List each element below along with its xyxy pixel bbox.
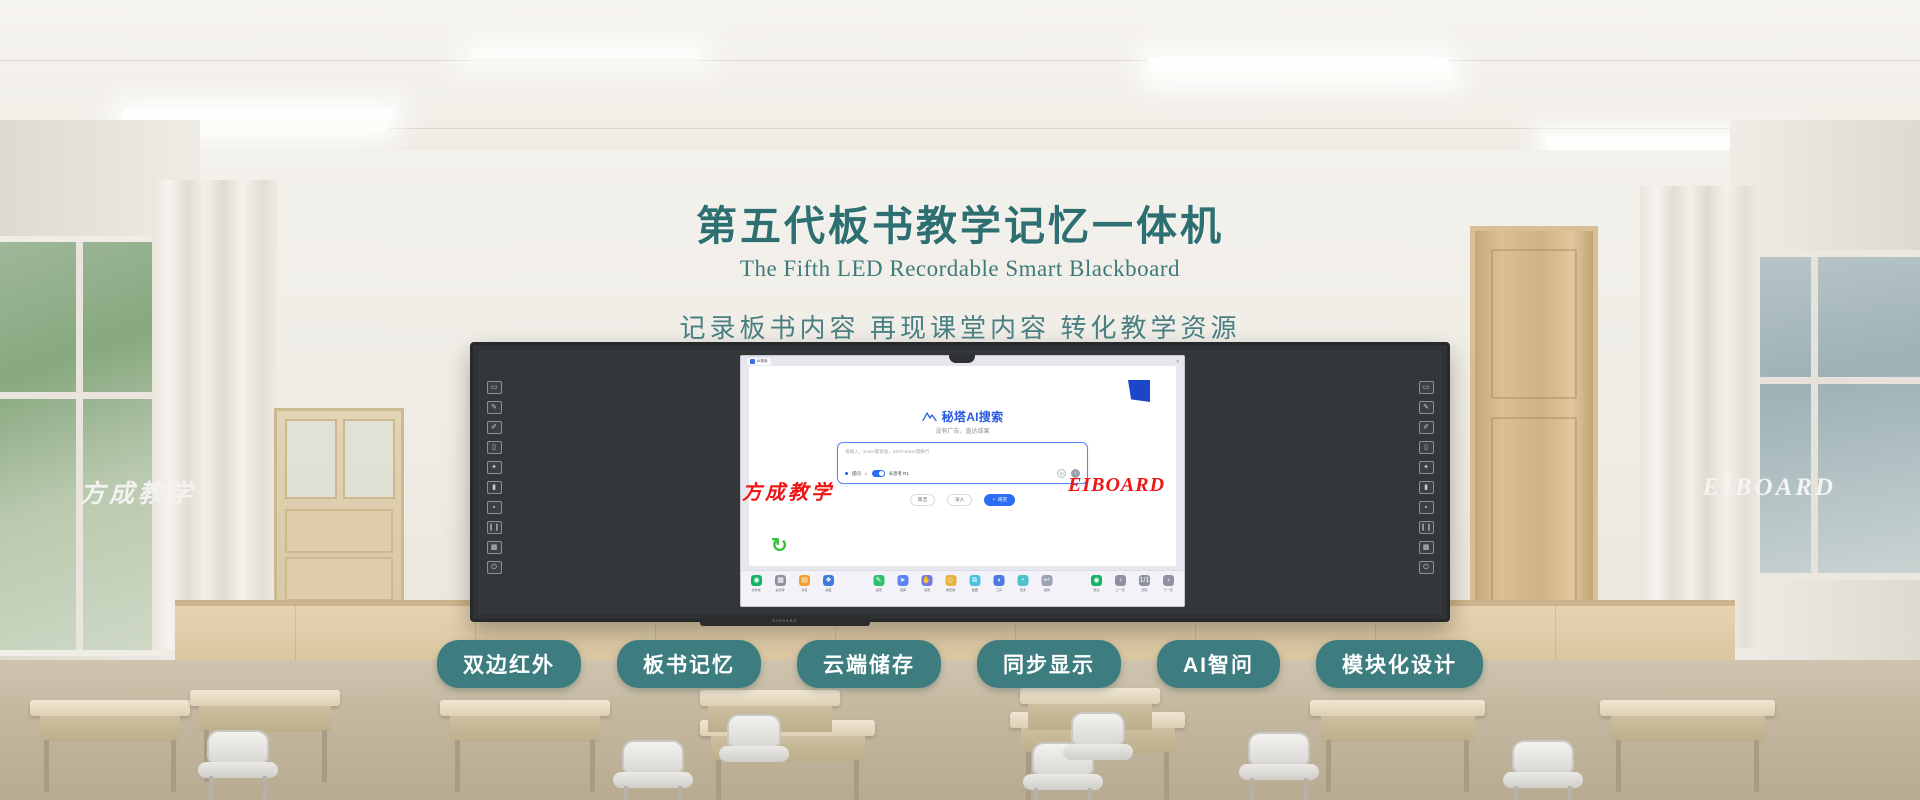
student-desk	[30, 700, 190, 795]
student-chair	[195, 730, 281, 800]
feature-pill-云端储存[interactable]: 云端储存	[797, 640, 941, 688]
taskbar-item-label: 资源库	[776, 587, 785, 592]
side-cabinet	[274, 408, 404, 608]
taskbar-上一页-icon: ‹	[1115, 575, 1126, 586]
taskbar-item-下一页[interactable]: ›下一页	[1160, 575, 1177, 592]
camera-icon[interactable]: ◎	[1057, 469, 1066, 478]
mode-dot-icon	[845, 472, 848, 475]
blackboard-right-controls[interactable]: ▭✎✐▯✦▮▪❙❙▩⏻	[1413, 381, 1439, 574]
chalk-text-right: EIBOARD	[1702, 474, 1836, 502]
chevron-down-icon[interactable]: ∨	[865, 471, 868, 476]
taskbar-页码-icon: 1/1	[1139, 575, 1150, 586]
display-button[interactable]: ▭	[1419, 381, 1434, 394]
grid-button[interactable]: ▩	[1419, 541, 1434, 554]
taskbar-item-label: 科目	[801, 587, 807, 592]
taskbar-item-页码[interactable]: 1/1页码	[1136, 575, 1153, 592]
student-chair	[1060, 712, 1136, 792]
search-chip-label: 简洁	[918, 497, 927, 502]
taskbar-item-画笔[interactable]: ✎画笔	[870, 575, 887, 592]
taskbar-item-上一页[interactable]: ‹上一页	[1112, 575, 1129, 592]
search-input[interactable]: 请输入，Enter键发送，Shift+Enter键换行	[845, 449, 929, 455]
search-chip-label: 研究	[998, 497, 1007, 503]
taskbar-item-label: 工具	[995, 587, 1001, 592]
feature-pill-模块化设计[interactable]: 模块化设计	[1316, 640, 1483, 688]
taskbar-资源库-icon: ▦	[775, 575, 786, 586]
taskbar-item-label: 文件夹	[752, 587, 761, 592]
search-box[interactable]: 请输入，Enter键发送，Shift+Enter键换行 提问 ∨ 长思考 R1 …	[837, 442, 1088, 484]
student-chair	[716, 714, 792, 794]
power-button[interactable]: ⏻	[487, 561, 502, 574]
taskbar-桌面-icon: ❖	[823, 575, 834, 586]
blackboard-left-controls[interactable]: ▭✎✐▯✦▮▪❙❙▩⏻	[481, 381, 507, 574]
taskbar-item-label: 选择	[899, 587, 905, 592]
feature-pill-双边红外[interactable]: 双边红外	[437, 640, 581, 688]
taskbar-批注-icon: ◉	[1091, 575, 1102, 586]
screen-notch	[949, 355, 975, 363]
taskbar-item-label: 桌面	[825, 587, 831, 592]
brand-name: 秘塔AI搜索	[942, 408, 1004, 425]
search-chip-label: 深入	[955, 497, 964, 502]
page-button[interactable]: ▯	[1419, 441, 1434, 454]
taskbar-橡皮擦-icon: ◇	[945, 575, 956, 586]
sparkle-icon: ✧	[992, 497, 996, 503]
taskbar-科目-icon: ▤	[799, 575, 810, 586]
deep-think-label: 长思考 R1	[889, 471, 909, 477]
blackboard-base: EIBOARD	[700, 616, 870, 626]
search-page: 秘塔AI搜索 没有广告，直达结果 请输入，Enter键发送，Shift+Ente…	[749, 366, 1176, 566]
marker-button[interactable]: ✐	[1419, 421, 1434, 434]
search-chip-简洁[interactable]: 简洁	[910, 494, 935, 506]
favicon-icon	[750, 359, 755, 364]
feature-pill-AI智问[interactable]: AI智问	[1157, 640, 1280, 688]
page-subtitle: The Fifth LED Recordable Smart Blackboar…	[0, 256, 1920, 282]
red-chalk-text-right: EIBOARD	[1068, 474, 1165, 497]
student-desk	[1310, 700, 1485, 795]
contrast-button[interactable]: ▮	[487, 481, 502, 494]
taskbar-选择-icon: ➤	[897, 575, 908, 586]
taskbar-item-label: 批注	[1093, 587, 1099, 592]
taskbar-right-group[interactable]: ◉批注‹上一页1/1页码›下一页	[1088, 575, 1177, 592]
power-button[interactable]: ⏻	[1419, 561, 1434, 574]
taskbar-item-漫游[interactable]: ✋漫游	[918, 575, 935, 592]
taskbar-item-资源库[interactable]: ▦资源库	[772, 575, 789, 592]
student-desk	[440, 700, 610, 795]
search-box-footer: 提问 ∨ 长思考 R1 ◎ ↑	[845, 469, 1080, 478]
metaso-logo-icon	[922, 411, 937, 422]
taskbar-文件夹-icon: ◉	[751, 575, 762, 586]
page-tagline: 记录板书内容 再现课堂内容 转化教学资源	[0, 308, 1920, 345]
student-desk	[1600, 700, 1775, 795]
headline-block: 第五代板书教学记忆一体机 The Fifth LED Recordable Sm…	[0, 192, 1920, 345]
taskbar-item-更多[interactable]: ◔更多	[1014, 575, 1031, 592]
taskbar-item-工具[interactable]: ◑工具	[990, 575, 1007, 592]
taskbar-item-label: 更多	[1019, 587, 1025, 592]
feature-pill-板书记忆[interactable]: 板书记忆	[617, 640, 761, 688]
taskbar-item-label: 下一页	[1164, 587, 1173, 592]
blackboard-base-label: EIBOARD	[700, 616, 870, 626]
ceiling-light	[1148, 58, 1453, 80]
pen-button[interactable]: ✎	[1419, 401, 1434, 414]
taskbar-item-label: 截图	[971, 587, 977, 592]
feature-pill-同步显示[interactable]: 同步显示	[977, 640, 1121, 688]
taskbar-截图-icon: ⧉	[969, 575, 980, 586]
taskbar-item-撤销[interactable]: ↩撤销	[1038, 575, 1055, 592]
student-chair	[1236, 732, 1322, 800]
red-chalk-text-left: 方成教学	[742, 476, 834, 505]
close-icon[interactable]: ×	[1176, 359, 1179, 365]
taskbar-item-label: 上一页	[1116, 587, 1125, 592]
brand-tagline: 没有广告，直达结果	[749, 426, 1176, 435]
chalk-text-left: 方成教学	[80, 474, 196, 510]
taskbar-画笔-icon: ✎	[873, 575, 884, 586]
contrast-button[interactable]: ▮	[1419, 481, 1434, 494]
brightness-button[interactable]: ✦	[1419, 461, 1434, 474]
pc-taskbar[interactable]: ◉文件夹▦资源库▤科目❖桌面 ✎画笔➤选择✋漫游◇橡皮擦⧉截图◑工具◔更多↩撤销…	[741, 570, 1184, 606]
brightness-button[interactable]: ✦	[487, 461, 502, 474]
mode-label[interactable]: 提问	[852, 471, 861, 477]
stop-button[interactable]: ▪	[1419, 501, 1434, 514]
stop-button[interactable]: ▪	[487, 501, 502, 514]
student-chair	[610, 740, 696, 800]
taskbar-item-文件夹[interactable]: ◉文件夹	[748, 575, 765, 592]
taskbar-item-橡皮擦[interactable]: ◇橡皮擦	[942, 575, 959, 592]
feature-pill-row[interactable]: 双边红外板书记忆云端储存同步显示AI智问模块化设计	[0, 640, 1920, 688]
student-chair	[1500, 740, 1586, 800]
taskbar-item-label: 撤销	[1043, 587, 1049, 592]
brand-row: 秘塔AI搜索	[749, 408, 1176, 425]
taskbar-item-科目[interactable]: ▤科目	[796, 575, 813, 592]
ceiling-seam	[0, 60, 1920, 61]
ceiling-light	[469, 48, 701, 64]
taskbar-漫游-icon: ✋	[921, 575, 932, 586]
taskbar-下一页-icon: ›	[1163, 575, 1174, 586]
taskbar-item-选择[interactable]: ➤选择	[894, 575, 911, 592]
taskbar-工具-icon: ◑	[993, 575, 1004, 586]
browser-tab-label: AI搜索	[757, 359, 768, 364]
taskbar-item-label: 橡皮擦	[946, 587, 955, 592]
taskbar-item-截图[interactable]: ⧉截图	[966, 575, 983, 592]
taskbar-item-label: 页码	[1141, 587, 1147, 592]
search-chip-深入[interactable]: 深入	[947, 494, 972, 506]
taskbar-center-group[interactable]: ✎画笔➤选择✋漫游◇橡皮擦⧉截图◑工具◔更多↩撤销	[870, 575, 1055, 592]
pause-button[interactable]: ❙❙	[487, 521, 502, 534]
grid-button[interactable]: ▩	[487, 541, 502, 554]
blue-flag-mark	[1128, 380, 1150, 402]
search-chip-研究[interactable]: ✧研究	[984, 494, 1015, 506]
pen-button[interactable]: ✎	[487, 401, 502, 414]
taskbar-item-label: 画笔	[875, 587, 881, 592]
taskbar-item-桌面[interactable]: ❖桌面	[820, 575, 837, 592]
page-title: 第五代板书教学记忆一体机	[0, 192, 1920, 252]
browser-tab[interactable]: AI搜索	[747, 358, 771, 365]
taskbar-left-group[interactable]: ◉文件夹▦资源库▤科目❖桌面	[748, 575, 837, 592]
display-button[interactable]: ▭	[487, 381, 502, 394]
taskbar-撤销-icon: ↩	[1041, 575, 1052, 586]
taskbar-更多-icon: ◔	[1017, 575, 1028, 586]
marker-button[interactable]: ✐	[487, 421, 502, 434]
taskbar-item-label: 漫游	[923, 587, 929, 592]
undo-icon[interactable]: ↺	[771, 533, 788, 558]
page-button[interactable]: ▯	[487, 441, 502, 454]
deep-think-toggle[interactable]	[872, 470, 885, 477]
pause-button[interactable]: ❙❙	[1419, 521, 1434, 534]
taskbar-item-批注[interactable]: ◉批注	[1088, 575, 1105, 592]
classroom-hero-banner: 第五代板书教学记忆一体机 The Fifth LED Recordable Sm…	[0, 0, 1920, 800]
